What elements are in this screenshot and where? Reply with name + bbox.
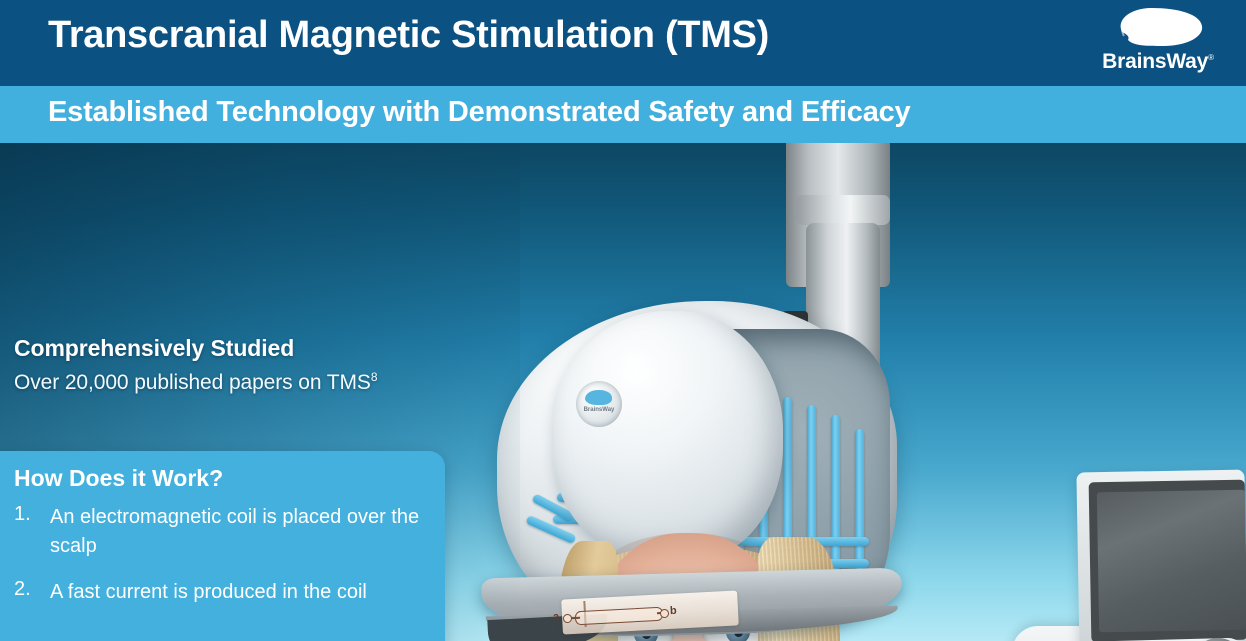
- how-card-steps: 1. An electromagnetic coil is placed ove…: [0, 503, 445, 641]
- coil-winding: [855, 429, 864, 571]
- registered-mark-icon: ®: [1208, 53, 1214, 62]
- logo-word-way: Way: [1166, 50, 1208, 73]
- list-item: 1. An electromagnetic coil is placed ove…: [0, 503, 445, 533]
- monitor-screen: [1097, 490, 1246, 633]
- list-item: 2. A fast current is produced in the coi…: [0, 578, 445, 608]
- machine-column-cap: [796, 195, 890, 225]
- illustration-stage: BrainsWay: [0, 143, 1246, 641]
- studied-body: Over 20,000 published papers on TMS8: [14, 370, 377, 395]
- page-title: Transcranial Magnetic Stimulation (TMS): [48, 14, 769, 57]
- step-text: An electromagnetic coil is placed over t…: [50, 503, 440, 561]
- step-number: 2.: [14, 578, 42, 601]
- brainsway-logo: BrainsWay®: [1094, 6, 1222, 82]
- badge-brain-icon: [585, 390, 612, 405]
- subtitle-bar: Established Technology with Demonstrated…: [0, 86, 1246, 143]
- brainsway-wordmark: BrainsWay®: [1094, 50, 1222, 74]
- step-text: A fast current is produced in the coil: [50, 578, 440, 607]
- footnote-marker: 8: [371, 370, 378, 384]
- subtitle-text: Established Technology with Demonstrated…: [48, 96, 911, 129]
- badge-label: BrainsWay: [576, 407, 622, 413]
- step-number: 1.: [14, 503, 42, 526]
- slide-transcranial-magnetic-stimulation: Transcranial Magnetic Stimulation (TMS) …: [0, 0, 1246, 641]
- helmet-brand-badge: BrainsWay: [576, 381, 622, 427]
- header-bar: Transcranial Magnetic Stimulation (TMS) …: [0, 0, 1246, 86]
- positioning-label-b: b: [670, 605, 677, 617]
- logo-word-brains: Brains: [1102, 50, 1166, 73]
- how-card-heading: How Does it Work?: [14, 465, 223, 492]
- how-does-it-work-card: How Does it Work? 1. An electromagnetic …: [0, 451, 445, 641]
- studied-body-text: Over 20,000 published papers on TMS: [14, 371, 371, 394]
- comprehensively-studied-block: Comprehensively Studied Over 20,000 publ…: [14, 335, 377, 395]
- positioning-label-a: a: [553, 611, 560, 623]
- studied-heading: Comprehensively Studied: [14, 335, 377, 362]
- brain-logo-icon: [1112, 6, 1208, 52]
